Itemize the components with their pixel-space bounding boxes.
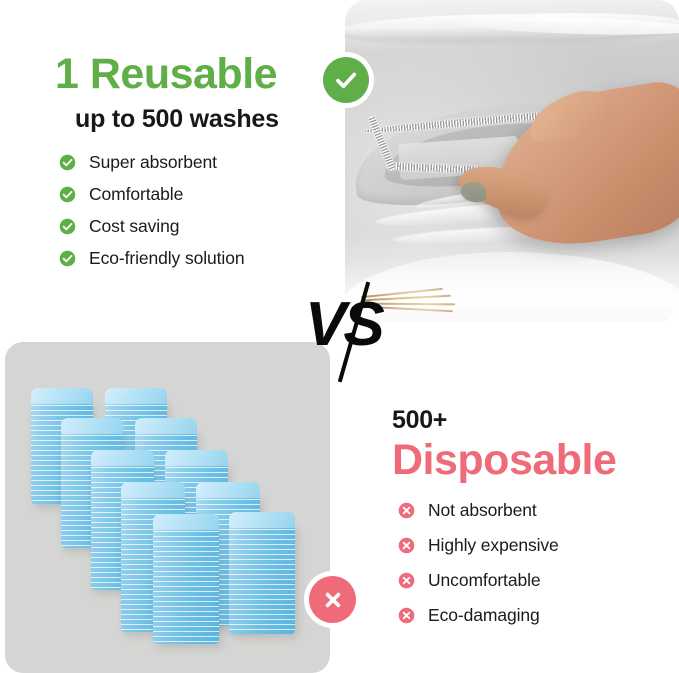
list-item: Uncomfortable xyxy=(398,570,667,591)
list-item: Eco-damaging xyxy=(398,605,667,626)
pad-stack xyxy=(153,526,219,644)
versus-label: VS xyxy=(305,294,382,356)
list-item: Eco-friendly solution xyxy=(59,248,335,269)
reusable-title: 1 Reusable xyxy=(55,52,335,97)
list-item: Cost saving xyxy=(59,216,335,237)
disposable-cross-badge xyxy=(304,571,361,628)
disposable-product-photo xyxy=(5,342,330,673)
cross-circle-icon xyxy=(398,537,415,554)
check-circle-icon xyxy=(323,57,369,103)
feature-label: Cost saving xyxy=(89,216,179,237)
cross-circle-icon xyxy=(309,576,356,623)
feature-label: Eco-damaging xyxy=(428,605,540,626)
reusable-product-photo xyxy=(345,0,679,322)
check-circle-icon xyxy=(59,186,76,203)
check-circle-icon xyxy=(59,154,76,171)
cross-circle-icon xyxy=(398,607,415,624)
feature-label: Highly expensive xyxy=(428,535,559,556)
list-item: Comfortable xyxy=(59,184,335,205)
reusable-subtitle: up to 500 washes xyxy=(75,105,335,134)
feature-label: Uncomfortable xyxy=(428,570,541,591)
list-item: Not absorbent xyxy=(398,500,667,521)
reusable-text-block: 1 Reusable up to 500 washes Super absorb… xyxy=(55,52,335,280)
disposable-text-block: 500+ Disposable Not absorbent xyxy=(392,406,667,640)
cross-circle-icon xyxy=(398,572,415,589)
list-item: Highly expensive xyxy=(398,535,667,556)
reusable-feature-list: Super absorbent Comfortable xyxy=(59,152,335,269)
check-circle-icon xyxy=(59,218,76,235)
disposable-count: 500+ xyxy=(392,406,667,435)
feature-label: Comfortable xyxy=(89,184,183,205)
feature-label: Super absorbent xyxy=(89,152,217,173)
disposable-title: Disposable xyxy=(392,437,667,484)
pad-stack xyxy=(229,524,295,634)
reusable-check-badge xyxy=(318,52,374,108)
disposable-feature-list: Not absorbent Highly expensive xyxy=(398,500,667,626)
versus-mark: VS xyxy=(305,286,395,382)
cross-circle-icon xyxy=(398,502,415,519)
mattress-bottom-rim xyxy=(345,252,679,322)
feature-label: Not absorbent xyxy=(428,500,537,521)
check-circle-icon xyxy=(59,250,76,267)
feature-label: Eco-friendly solution xyxy=(89,248,244,269)
list-item: Super absorbent xyxy=(59,152,335,173)
comparison-infographic: 1 Reusable up to 500 washes Super absorb… xyxy=(0,0,679,673)
